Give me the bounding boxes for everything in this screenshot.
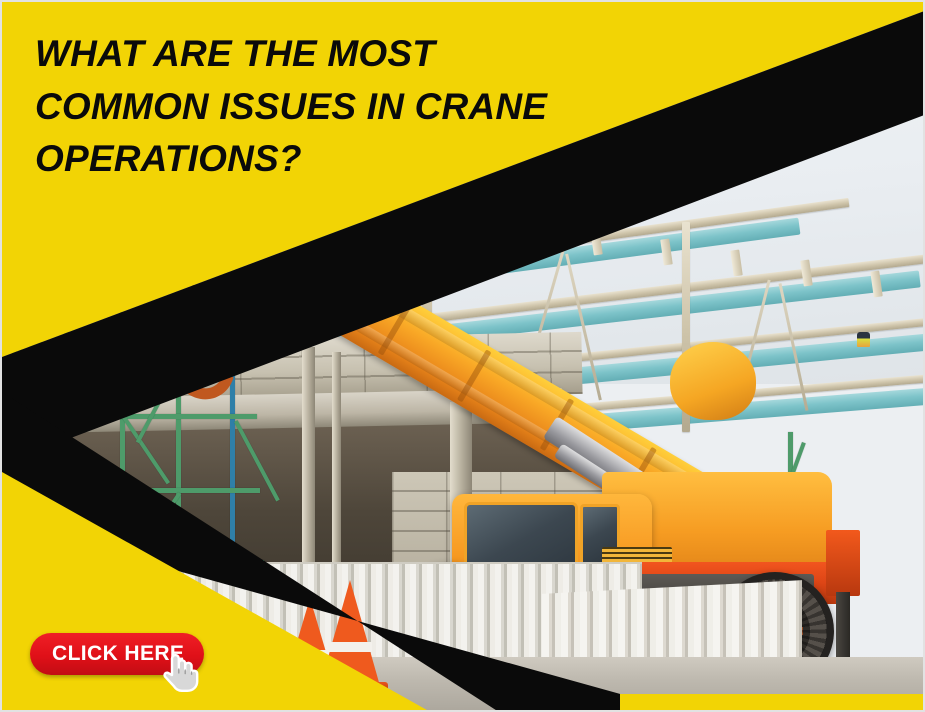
- headline-line-1: WHAT ARE THE MOST: [35, 28, 635, 81]
- headline-line-2: COMMON ISSUES IN CRANE: [35, 81, 635, 134]
- yellow-block-bottom-right: [620, 694, 925, 712]
- click-here-label: CLICK HERE: [52, 642, 184, 666]
- crane-operations-banner: WHAT ARE THE MOST COMMON ISSUES IN CRANE…: [0, 0, 925, 712]
- page-title: WHAT ARE THE MOST COMMON ISSUES IN CRANE…: [35, 28, 635, 186]
- headline-line-3: OPERATIONS?: [35, 133, 635, 186]
- click-here-button[interactable]: CLICK HERE: [30, 633, 204, 675]
